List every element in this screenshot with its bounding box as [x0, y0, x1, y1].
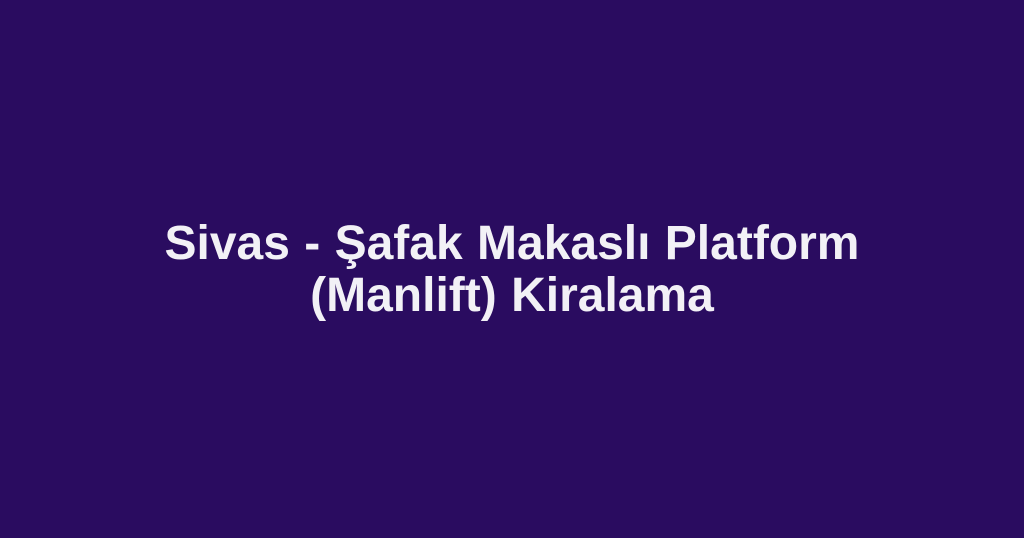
- page-title: Sivas - Şafak Makaslı Platform(Manlift) …: [40, 218, 984, 322]
- title-block: Sivas - Şafak Makaslı Platform(Manlift) …: [0, 218, 1024, 322]
- page-title-line-1: Sivas - Şafak Makaslı Platform: [40, 218, 984, 270]
- banner-container: Sivas - Şafak Makaslı Platform(Manlift) …: [0, 0, 1024, 538]
- page-title-line-2: (Manlift) Kiralama: [40, 270, 984, 322]
